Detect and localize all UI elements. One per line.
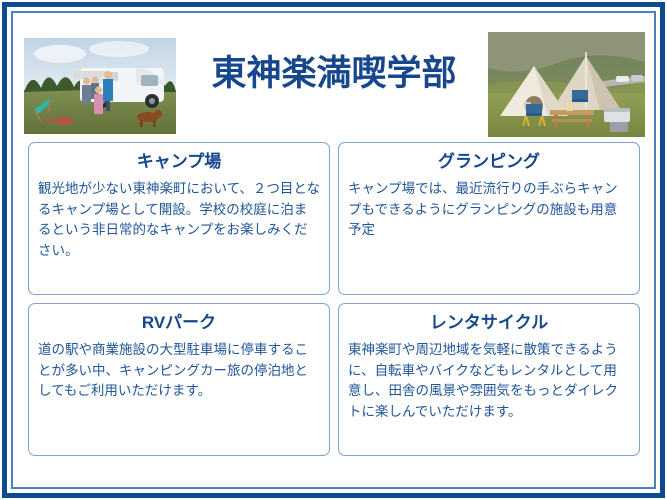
panel-glamping: グランピング キャンプ場では、最近流行りの手ぶらキャンプもできるようにグランピン… (338, 142, 640, 295)
panel-rv-park: RVパーク 道の駅や商業施設の大型駐車場に停車することが多い中、キャンピングカー… (28, 303, 330, 456)
panel-title-campsite: キャンプ場 (38, 151, 320, 173)
panel-body-rv-park: 道の駅や商業施設の大型駐車場に停車することが多い中、キャンピングカー旅の停泊地と… (38, 340, 320, 402)
glamping-tents-photo (488, 32, 645, 137)
panel-title-rental-cycle: レンタサイクル (348, 312, 630, 334)
page-title: 東神楽満喫学部 (184, 52, 484, 96)
panel-body-campsite: 観光地が少ない東神楽町において、２つ目となるキャンプ場として開設。学校の校庭に泊… (38, 179, 320, 261)
slide-canvas: 東神楽満喫学部 (0, 0, 667, 500)
slide-header: 東神楽満喫学部 (16, 16, 651, 134)
panel-title-rv-park: RVパーク (38, 312, 320, 334)
panel-body-glamping: キャンプ場では、最近流行りの手ぶらキャンプもできるようにグランピングの施設も用意… (348, 179, 630, 241)
panel-rental-cycle: レンタサイクル 東神楽町や周辺地域を気軽に散策できるように、自転車やバイクなども… (338, 303, 640, 456)
panel-campsite: キャンプ場 観光地が少ない東神楽町において、２つ目となるキャンプ場として開設。学… (28, 142, 330, 295)
feature-panel-grid: キャンプ場 観光地が少ない東神楽町において、２つ目となるキャンプ場として開設。学… (28, 142, 640, 458)
panel-body-rental-cycle: 東神楽町や周辺地域を気軽に散策できるように、自転車やバイクなどもレンタルとして用… (348, 340, 630, 422)
panel-title-glamping: グランピング (348, 151, 630, 173)
family-camper-van-photo (24, 38, 176, 134)
